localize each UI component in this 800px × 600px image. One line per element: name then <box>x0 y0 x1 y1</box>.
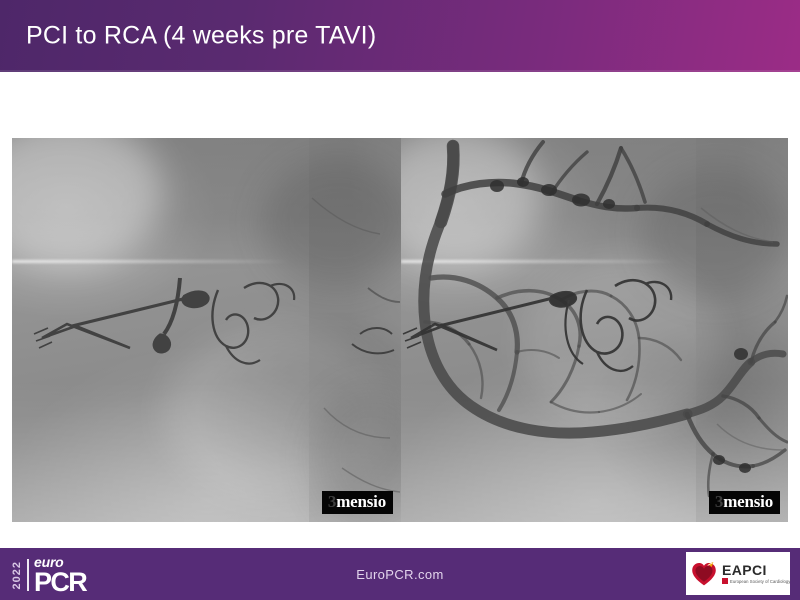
watermark-prefix: 3 <box>715 492 723 511</box>
heart-icon <box>691 561 717 587</box>
guidewire-and-catheter-overlay-left <box>12 138 401 522</box>
eapci-text-block: EAPCI European Society of Cardiology <box>722 563 790 585</box>
eapci-subtitle-row: European Society of Cardiology <box>722 578 790 584</box>
eapci-name: EAPCI <box>722 563 790 578</box>
angiography-image-pair: 3mensio <box>12 138 788 522</box>
eapci-logo[interactable]: EAPCI European Society of Cardiology <box>686 552 790 595</box>
watermark-3mensio-right: 3mensio <box>709 491 780 514</box>
header-divider <box>0 70 800 72</box>
watermark-text: mensio <box>723 492 773 511</box>
eapci-society-name: European Society of Cardiology <box>730 579 790 584</box>
esc-square-icon <box>722 578 728 584</box>
footer-website-link[interactable]: EuroPCR.com <box>356 567 443 582</box>
angio-panel-right[interactable]: 3mensio <box>401 138 788 522</box>
slide: PCI to RCA (4 weeks pre TAVI) <box>0 0 800 600</box>
page-title: PCI to RCA (4 weeks pre TAVI) <box>26 22 376 51</box>
guidewire-and-catheter-overlay-right <box>401 138 788 522</box>
footer-website-container: EuroPCR.com <box>0 548 800 600</box>
watermark-text: mensio <box>336 492 386 511</box>
watermark-3mensio-left: 3mensio <box>322 491 393 514</box>
slide-footer: 2022 euro PCR EuroPCR.com <box>0 548 800 600</box>
slide-header: PCI to RCA (4 weeks pre TAVI) <box>0 0 800 72</box>
watermark-prefix: 3 <box>328 492 336 511</box>
angio-panel-left[interactable]: 3mensio <box>12 138 401 522</box>
